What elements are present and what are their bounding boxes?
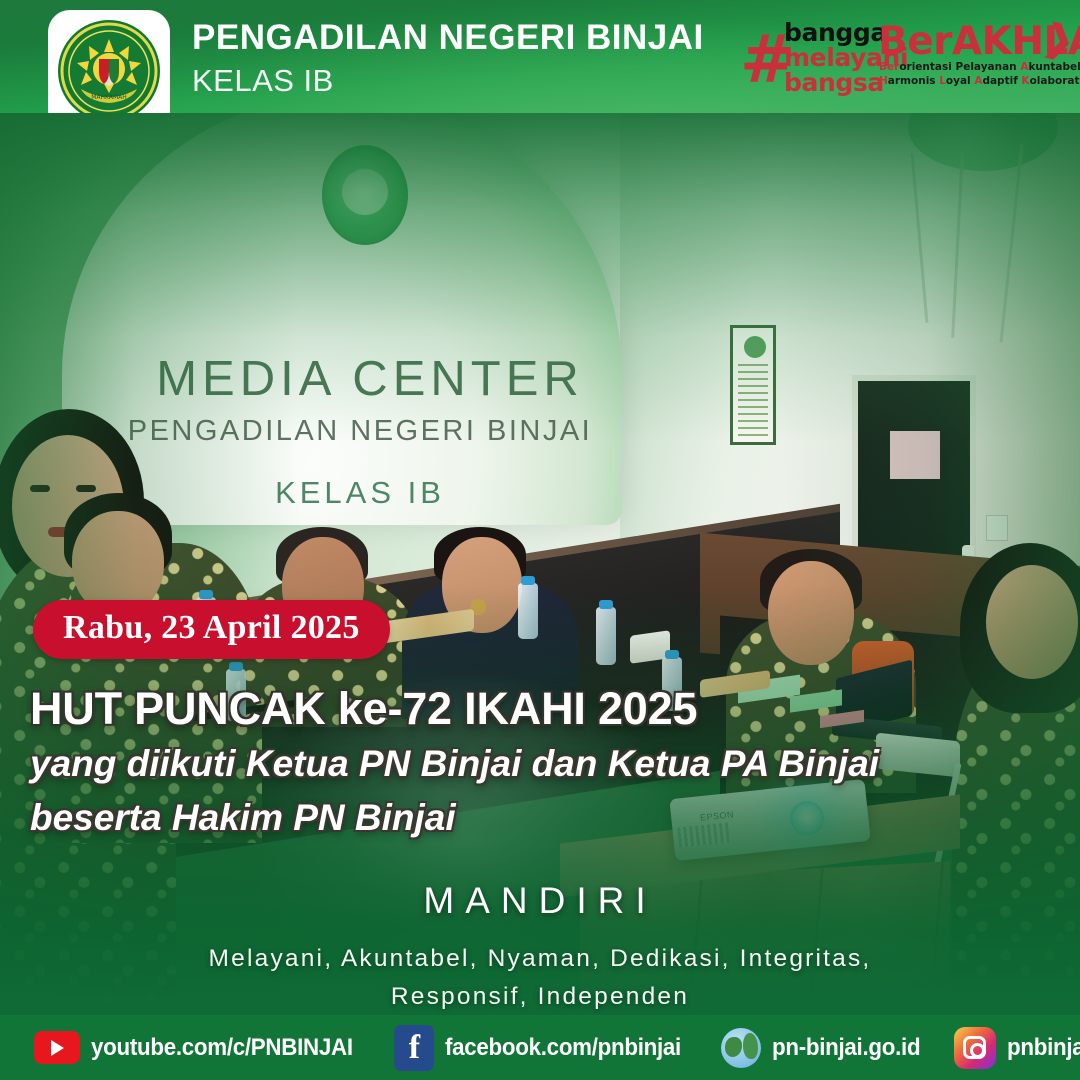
title-block: HUT PUNCAK ke-72 IKAHI 2025 yang diikuti… [30,684,1040,841]
facebook-label[interactable]: facebook.com/pnbinjai [445,1034,681,1062]
footer-item-website[interactable]: pn-binjai.go.id [721,1028,931,1068]
berakhlak-subtitle-2: Harmonis Loyal Adaptif Kolaboratif [879,76,1080,87]
court-seal-icon: MAHKAMAH [57,19,161,113]
instagram-label[interactable]: pnbinjai [1007,1034,1080,1062]
bangga-melayani-bangsa-logo: # bangga melayani bangsa [740,17,900,97]
footer-item-youtube[interactable]: youtube.com/c/PNBINJAI [34,1031,372,1064]
youtube-label[interactable]: youtube.com/c/PNBINJAI [91,1034,353,1062]
instagram-icon[interactable] [954,1027,996,1069]
globe-icon[interactable] [721,1028,761,1068]
page-title: HUT PUNCAK ke-72 IKAHI 2025 [30,684,1040,734]
title-subline-2: beserta Hakim PN Binjai [30,795,1040,841]
youtube-icon[interactable] [34,1031,80,1064]
header-title-block: PENGADILAN NEGERI BINJAI KELAS IB [192,18,704,99]
court-name: PENGADILAN NEGERI BINJAI [192,18,704,57]
footer-item-facebook[interactable]: f facebook.com/pnbinjai [394,1025,699,1071]
motto-expansion: Melayani, Akuntabel, Nyaman, Dedikasi, I… [0,940,1080,1016]
social-media-poster: MAHKAMAH PENGADILAN NEGERI BINJAI KELAS … [0,0,1080,1080]
berakhlak-logo: BerAKHLAK ❯ Berorientasi Pelayanan Akunt… [878,22,1068,96]
svg-text:MAHKAMAH: MAHKAMAH [91,94,127,101]
poster-header: MAHKAMAH PENGADILAN NEGERI BINJAI KELAS … [0,0,1080,113]
motto-line-2: Responsif, Independen [0,978,1080,1016]
social-footer: youtube.com/c/PNBINJAI f facebook.com/pn… [0,1015,1080,1080]
website-label[interactable]: pn-binjai.go.id [772,1034,920,1062]
bangga-line-3: bangsa [784,70,884,95]
berakhlak-subtitle-1: Berorientasi Pelayanan Akuntabel Kompete… [879,62,1080,73]
motto-acronym: MANDIRI [0,880,1080,922]
date-badge: Rabu, 23 April 2025 [33,600,390,659]
motto-line-1: Melayani, Akuntabel, Nyaman, Dedikasi, I… [0,940,1080,978]
facebook-icon[interactable]: f [394,1025,434,1071]
court-class: KELAS IB [192,62,704,99]
bangga-line-1: bangga [784,20,887,45]
court-logo-card: MAHKAMAH [48,10,170,113]
title-subline-1: yang diikuti Ketua PN Binjai dan Ketua P… [30,741,1040,787]
motto-block: MANDIRI Melayani, Akuntabel, Nyaman, Ded… [0,880,1080,1016]
footer-item-instagram[interactable]: pnbinjai [954,1027,1080,1069]
